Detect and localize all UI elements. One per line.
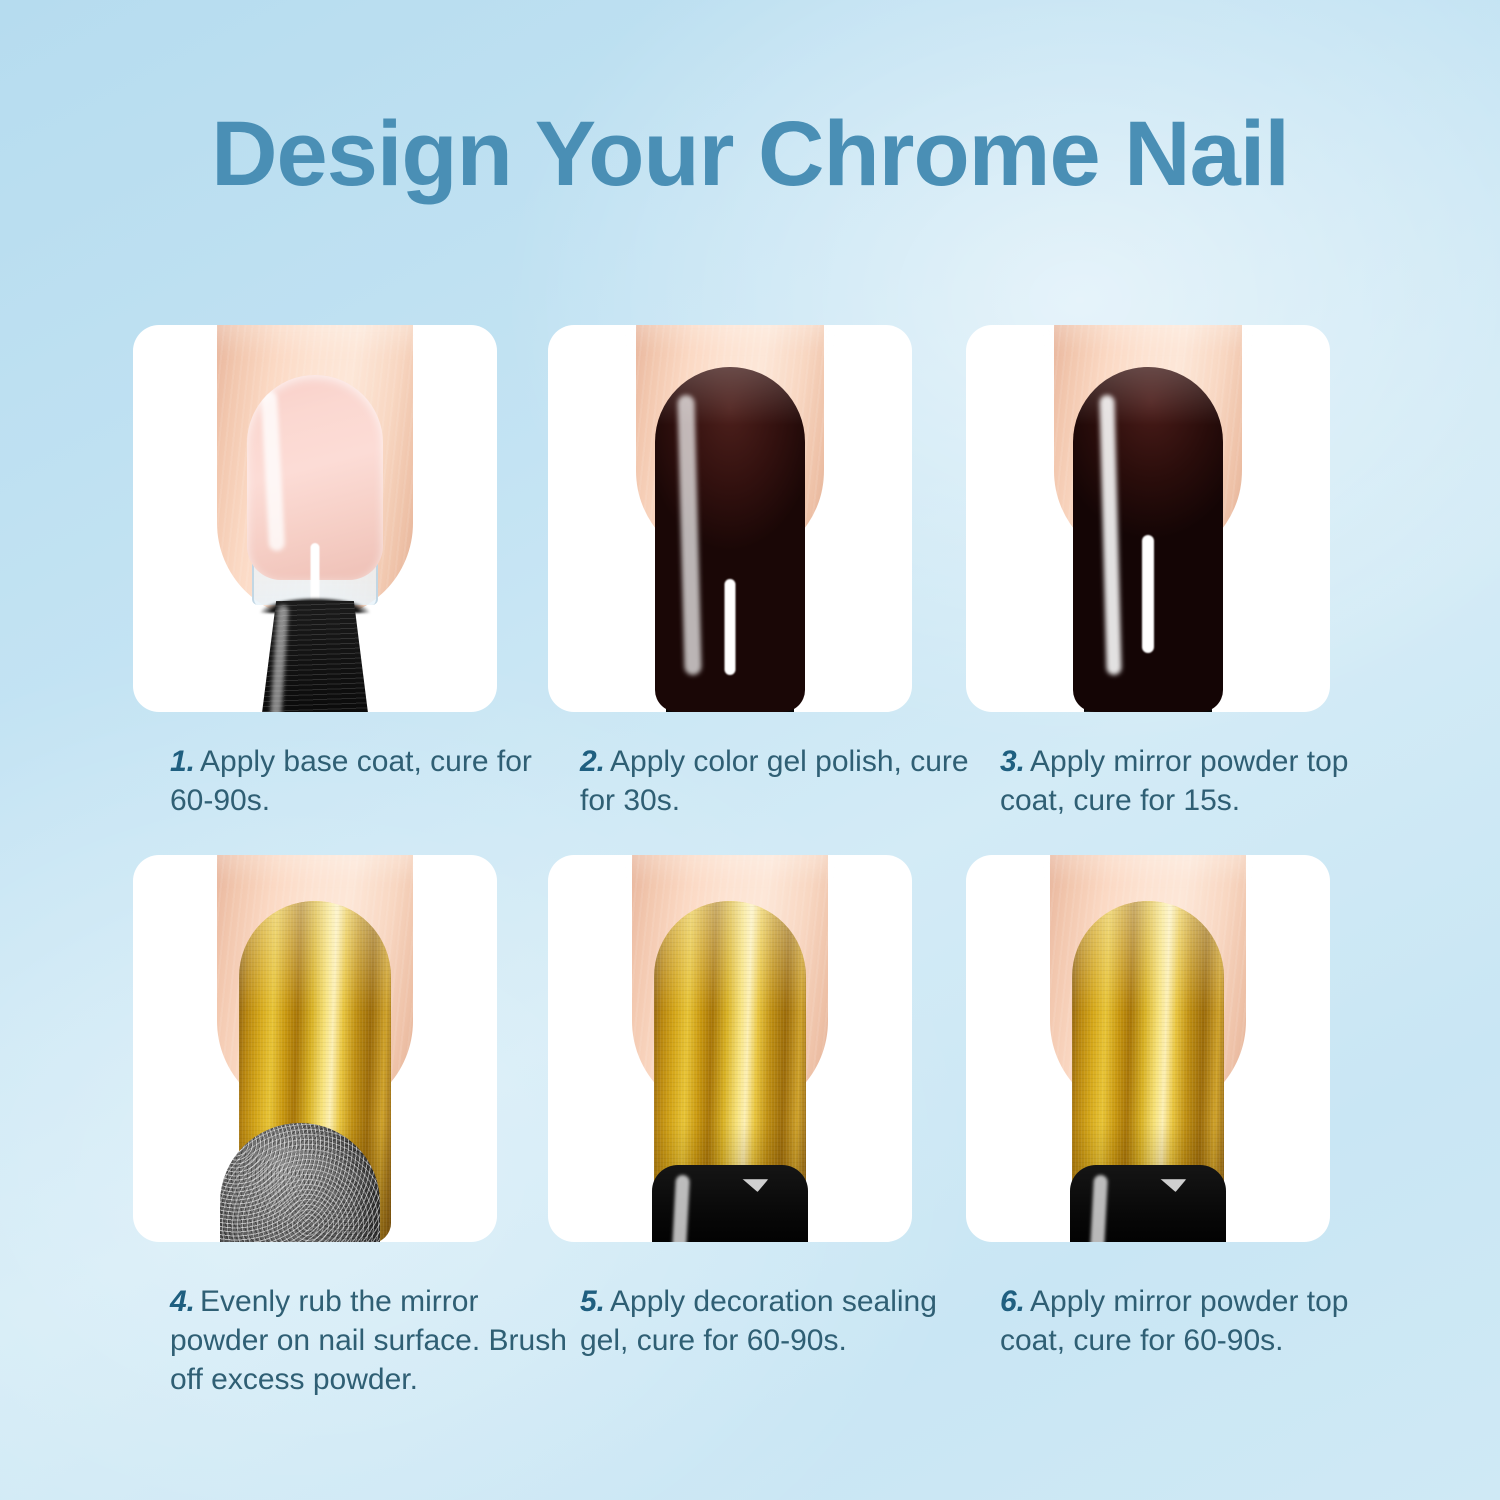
brush-highlight [1160,1179,1186,1192]
nail-top-sheen [1072,901,1224,1011]
step-number-6: 6. [1000,1285,1025,1318]
knuckle-highlight [210,855,420,883]
step-image-6 [966,855,1330,1242]
infographic-background: Design Your Chrome Nail [0,0,1500,1500]
step-number-3: 3. [1000,745,1025,778]
step-image-2 [548,325,912,712]
step-caption-6: 6.Apply mirror powder top coat, cure for… [1000,1282,1400,1360]
knuckle-highlight [1043,325,1253,351]
step-text-3: Apply mirror powder top coat, cure for 1… [1000,745,1349,817]
nail-top-sheen [239,901,391,1011]
nail-gloss-highlight [261,391,285,552]
knuckle-highlight [210,325,420,355]
knuckle-highlight [625,855,835,883]
step-caption-5: 5.Apply decoration sealing gel, cure for… [580,1282,980,1360]
brush-stroke-highlight [311,543,320,605]
nail-gloss-highlight [677,395,701,675]
step-number-2: 2. [580,745,605,778]
dark-gel-nail [655,367,805,712]
step-caption-2: 2.Apply color gel polish, cure for 30s. [580,742,980,820]
nail-center-highlight [725,579,736,675]
step-card-6 [966,855,1330,1242]
step-text-2: Apply color gel polish, cure for 30s. [580,745,969,817]
step-image-4 [133,855,497,1242]
brush-highlight [742,1179,768,1192]
knuckle-highlight [1043,855,1253,883]
step-caption-3: 3.Apply mirror powder top coat, cure for… [1000,742,1400,820]
dark-gel-nail [1073,367,1223,712]
step-image-1 [133,325,497,712]
step-image-5 [548,855,912,1242]
step-card-4 [133,855,497,1242]
step-number-4: 4. [170,1285,195,1318]
nail-top-sheen [654,901,806,1011]
step-text-4: Evenly rub the mirror powder on nail sur… [170,1285,567,1396]
step-number-5: 5. [580,1285,605,1318]
step-image-3 [966,325,1330,712]
step-text-1: Apply base coat, cure for 60-90s. [170,745,532,817]
black-brush [1070,1165,1226,1242]
nail-gloss-highlight [1099,395,1121,675]
step-card-1 [133,325,497,712]
step-caption-4: 4.Evenly rub the mirror powder on nail s… [170,1282,570,1399]
black-brush [261,601,369,712]
step-text-5: Apply decoration sealing gel, cure for 6… [580,1285,937,1357]
step-text-6: Apply mirror powder top coat, cure for 6… [1000,1285,1349,1357]
step-card-3 [966,325,1330,712]
black-brush [652,1165,808,1242]
nail-center-highlight [1142,535,1154,653]
steps-grid: 1.Apply base coat, cure for 60-90s. 2.Ap… [0,0,1500,1500]
step-number-1: 1. [170,745,195,778]
knuckle-highlight [625,325,835,351]
step-card-5 [548,855,912,1242]
step-caption-1: 1.Apply base coat, cure for 60-90s. [170,742,570,820]
step-card-2 [548,325,912,712]
